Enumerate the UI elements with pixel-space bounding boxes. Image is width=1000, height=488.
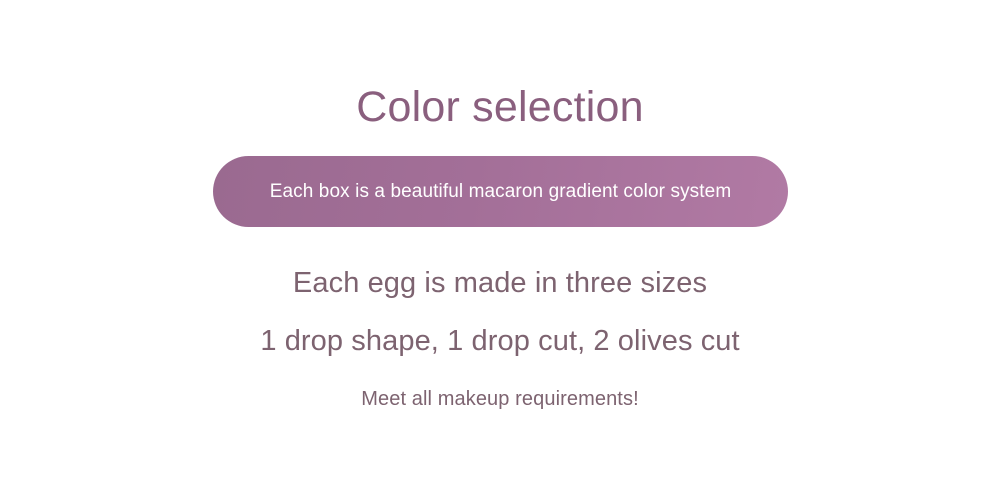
- description-line-3: Meet all makeup requirements!: [0, 384, 1000, 414]
- page-title: Color selection: [0, 79, 1000, 135]
- gradient-badge: Each box is a beautiful macaron gradient…: [213, 156, 788, 227]
- description-line-2: 1 drop shape, 1 drop cut, 2 olives cut: [0, 320, 1000, 362]
- gradient-badge-label: Each box is a beautiful macaron gradient…: [270, 180, 732, 204]
- description-line-1: Each egg is made in three sizes: [0, 262, 1000, 304]
- description-block: Each egg is made in three sizes 1 drop s…: [0, 262, 1000, 414]
- promo-banner: Color selection Each box is a beautiful …: [0, 0, 1000, 488]
